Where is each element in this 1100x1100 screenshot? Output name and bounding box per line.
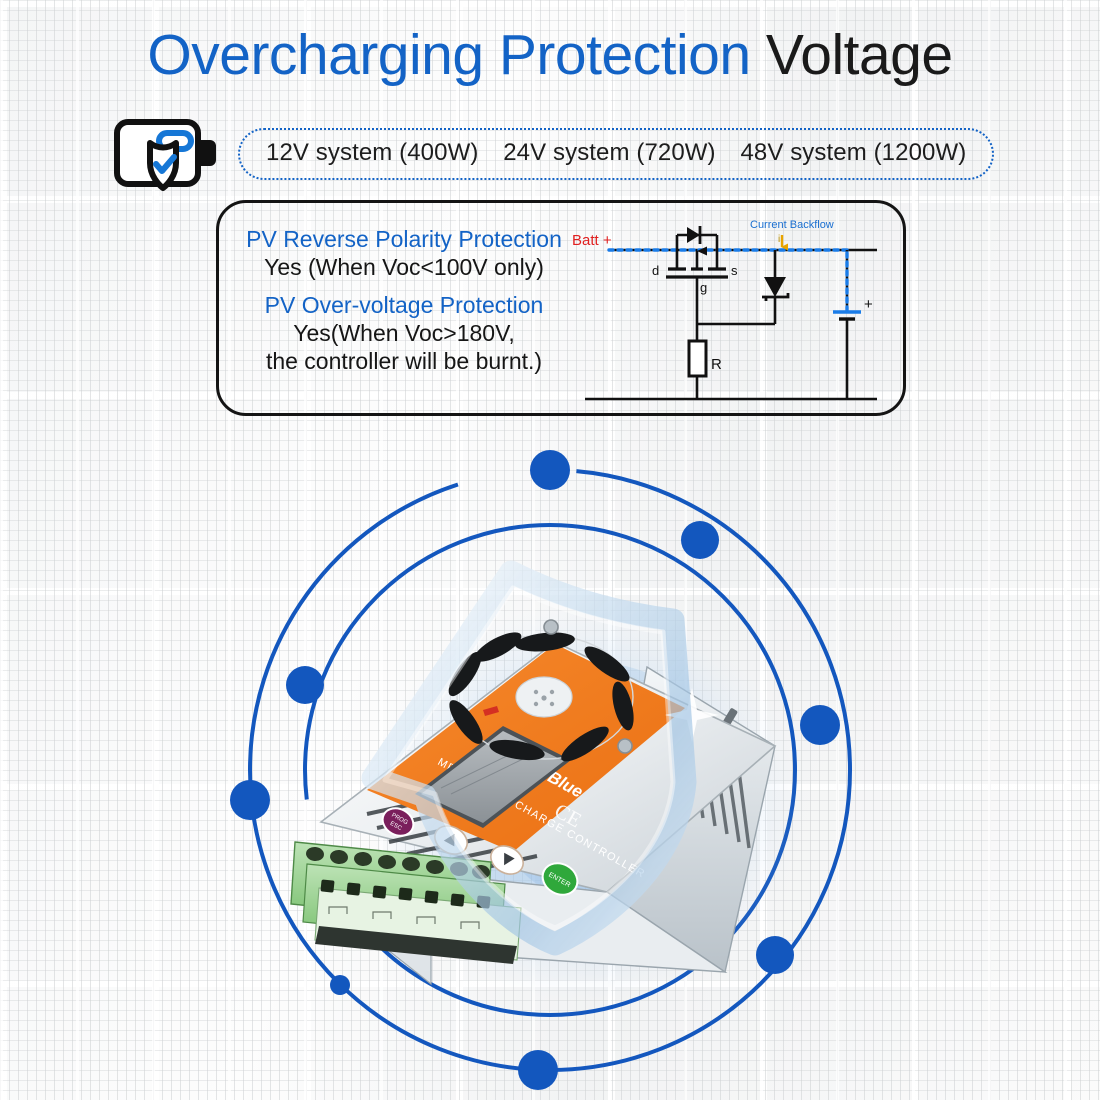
reverse-polarity-heading: PV Reverse Polarity Protection: [239, 225, 569, 253]
battery-plus-label: +: [864, 296, 873, 313]
battery-shield-check-icon: [112, 115, 224, 193]
page-title-highlight: Overcharging Protection: [147, 23, 750, 87]
system-spec-row: 12V system (400W) 24V system (720W) 48V …: [112, 115, 994, 193]
resistor-label: R: [711, 356, 722, 373]
protection-group-reverse-polarity: PV Reverse Polarity Protection Yes (When…: [239, 225, 569, 281]
over-voltage-value-line2: the controller will be burnt.): [239, 347, 569, 375]
ring-node: [518, 1050, 558, 1090]
protection-info-card: PV Reverse Polarity Protection Yes (When…: [216, 200, 906, 416]
system-spec-pill: 12V system (400W) 24V system (720W) 48V …: [238, 128, 994, 180]
current-backflow-label: Current Backflow: [750, 219, 834, 231]
screw: [544, 620, 558, 634]
current-symbol-label: i: [778, 234, 780, 245]
spec-48v: 48V system (1200W): [740, 139, 966, 166]
protection-group-over-voltage: PV Over-voltage Protection Yes(When Voc>…: [239, 291, 569, 375]
page-title-plain: Voltage: [766, 23, 953, 87]
ring-node: [530, 450, 570, 490]
over-voltage-heading: PV Over-voltage Protection: [239, 291, 569, 319]
spec-24v: 24V system (720W): [503, 139, 715, 166]
mosfet-drain-label: d: [652, 263, 659, 278]
over-voltage-value-line1: Yes(When Voc>180V,: [239, 319, 569, 347]
screw: [618, 739, 632, 753]
page-title: Overcharging Protection Voltage: [0, 22, 1100, 88]
mosfet-source-label: s: [731, 263, 738, 278]
mppt-charge-controller-photo: MakeSkyBlue MPPT SOLAR CHARGE CONTROLLER…: [255, 532, 855, 1032]
spec-12v: 12V system (400W): [266, 139, 478, 166]
product-hero: MakeSkyBlue MPPT SOLAR CHARGE CONTROLLER…: [0, 440, 1100, 1100]
batt-plus-label: Batt +: [572, 232, 612, 249]
protection-circuit-diagram: Batt + Current Backflow i: [567, 211, 897, 411]
mosfet-gate-label: g: [700, 280, 707, 295]
reverse-polarity-value: Yes (When Voc<100V only): [239, 253, 569, 281]
protection-text-block: PV Reverse Polarity Protection Yes (When…: [239, 225, 569, 375]
